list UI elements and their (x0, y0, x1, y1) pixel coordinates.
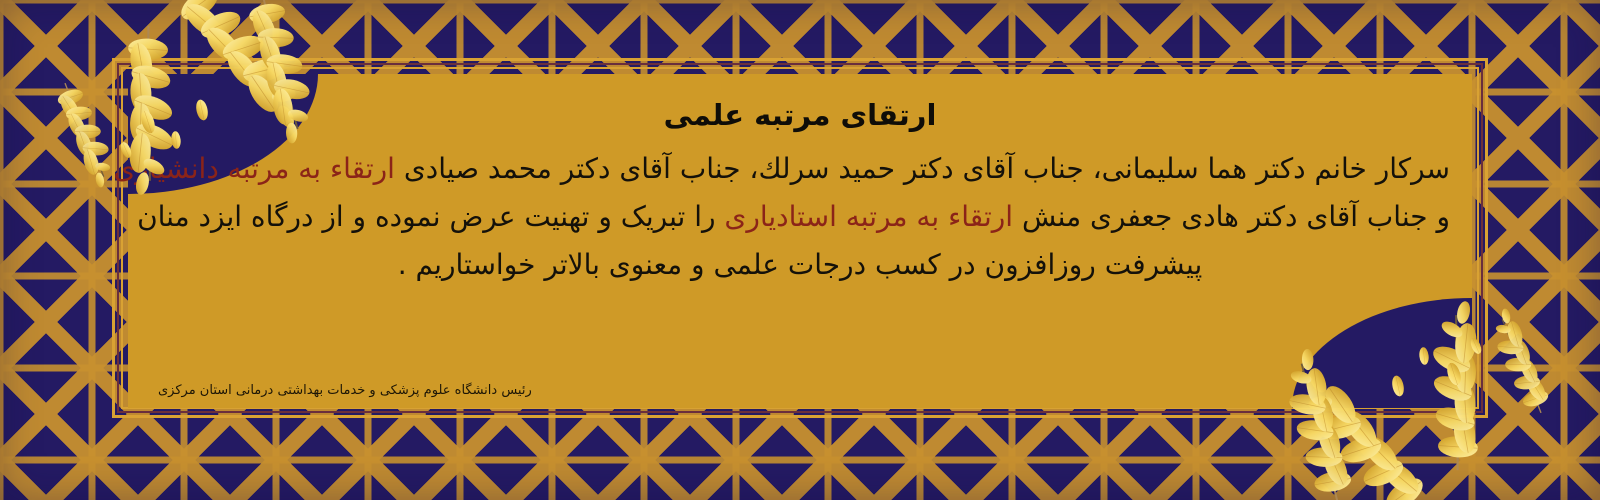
line3-segment-normal: پیشرفت روزافزون در کسب درجات علمی و معنو… (398, 248, 1203, 281)
line1-segment-highlight: ارتقاء به مرتبه دانشیاری (113, 152, 395, 185)
body-line-1: سرکار خانم دکتر هما سلیمانی، جناب آقای د… (150, 145, 1450, 193)
line2-segment-normal-a: و جناب آقای دکتر هادی جعفری منش (1013, 200, 1450, 233)
body-line-3: پیشرفت روزافزون در کسب درجات علمی و معنو… (150, 241, 1450, 289)
signature-text: رئیس دانشگاه علوم پزشکی و خدمات بهداشتی … (158, 383, 532, 398)
congratulation-banner: ارتقای مرتبه علمی سرکار خانم دکتر هما سل… (0, 0, 1600, 500)
body-text: سرکار خانم دکتر هما سلیمانی، جناب آقای د… (128, 145, 1472, 289)
line2-segment-highlight: ارتقاء به مرتبه استادیاری (724, 200, 1013, 233)
page-title: ارتقای مرتبه علمی (128, 74, 1472, 133)
banner-content: ارتقای مرتبه علمی سرکار خانم دکتر هما سل… (128, 74, 1472, 408)
line1-segment-normal: سرکار خانم دکتر هما سلیمانی، جناب آقای د… (395, 152, 1450, 185)
body-line-2: و جناب آقای دکتر هادی جعفری منش ارتقاء ب… (150, 193, 1450, 241)
line2-segment-normal-b: را تبریک و تهنیت عرض نموده و از درگاه ای… (137, 200, 724, 233)
